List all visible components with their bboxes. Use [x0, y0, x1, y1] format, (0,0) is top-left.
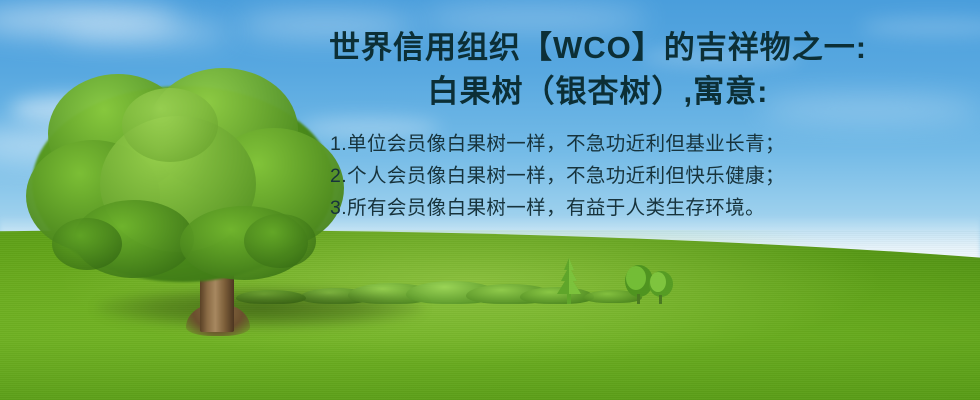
banner-title-line-1: 世界信用组织【WCO】的吉祥物之一:: [268, 26, 928, 70]
banner-body-line-3: 3.所有会员像白果树一样，有益于人类生存环境。: [330, 192, 928, 224]
tree-canopy: [122, 88, 218, 162]
tree-canopy: [52, 218, 122, 270]
cloud-icon: [60, 22, 230, 42]
banner-text-block: 世界信用组织【WCO】的吉祥物之一: 白果树（银杏树）,寓意: 1.单位会员像白…: [268, 26, 928, 224]
conifer-tree-icon: [648, 270, 674, 304]
wco-mascot-banner: 世界信用组织【WCO】的吉祥物之一: 白果树（银杏树）,寓意: 1.单位会员像白…: [0, 0, 980, 400]
banner-body-line-2: 2.个人会员像白果树一样，不急功近利但快乐健康；: [330, 160, 928, 192]
banner-body-list: 1.单位会员像白果树一样，不急功近利但基业长青； 2.个人会员像白果树一样，不急…: [268, 128, 928, 224]
banner-title-line-2: 白果树（银杏树）,寓意:: [268, 70, 928, 114]
conifer-tree-icon: [552, 258, 586, 304]
banner-body-line-1: 1.单位会员像白果树一样，不急功近利但基业长青；: [330, 128, 928, 160]
